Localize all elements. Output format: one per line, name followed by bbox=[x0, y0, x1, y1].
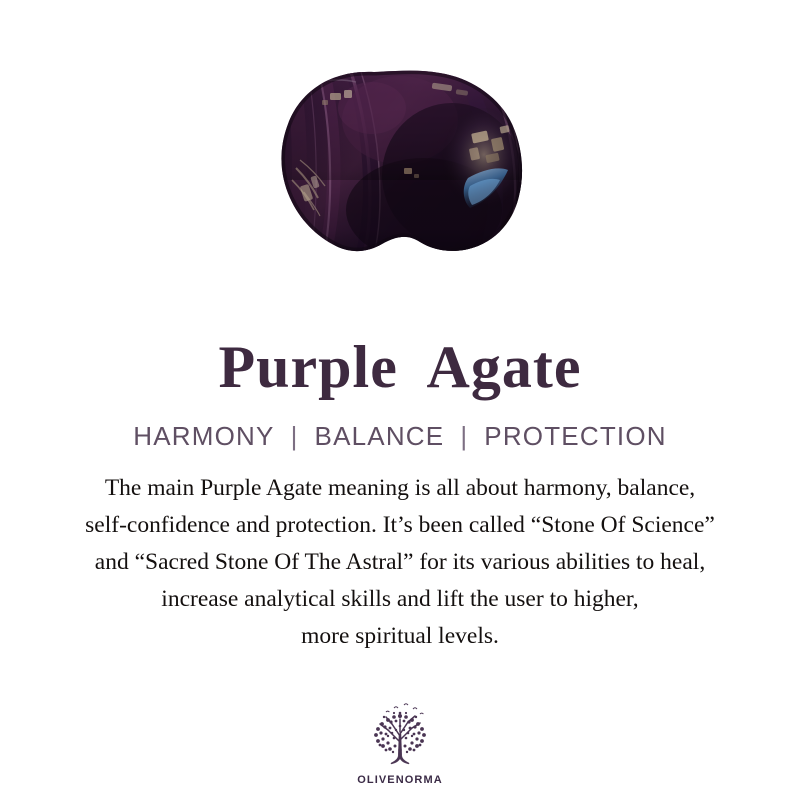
purple-agate-stone-image bbox=[0, 0, 800, 300]
keyword-separator: | bbox=[277, 421, 313, 452]
keyword-separator: | bbox=[446, 421, 482, 452]
keyword-protection: PROTECTION bbox=[482, 421, 668, 452]
keyword-balance: BALANCE bbox=[313, 421, 447, 452]
purple-agate-info-card: Purple Agate HARMONY | BALANCE | PROTECT… bbox=[0, 0, 800, 800]
page-title: Purple Agate bbox=[219, 336, 582, 399]
description-line: self-confidence and protection. It’s bee… bbox=[20, 507, 780, 544]
description-line: The main Purple Agate meaning is all abo… bbox=[20, 470, 780, 507]
hero-image-container bbox=[0, 0, 800, 300]
logo-wordmark: OLIVENORMA bbox=[357, 774, 443, 786]
brand-logo: OLIVENORMA bbox=[0, 700, 800, 786]
keyword-list: HARMONY | BALANCE | PROTECTION bbox=[131, 421, 668, 452]
keyword-harmony: HARMONY bbox=[131, 421, 276, 452]
description-text: The main Purple Agate meaning is all abo… bbox=[20, 470, 780, 655]
description-line: increase analytical skills and lift the … bbox=[20, 581, 780, 618]
description-line: more spiritual levels. bbox=[20, 618, 780, 655]
description-line: and “Sacred Stone Of The Astral” for its… bbox=[20, 544, 780, 581]
tree-of-life-icon bbox=[358, 700, 442, 772]
